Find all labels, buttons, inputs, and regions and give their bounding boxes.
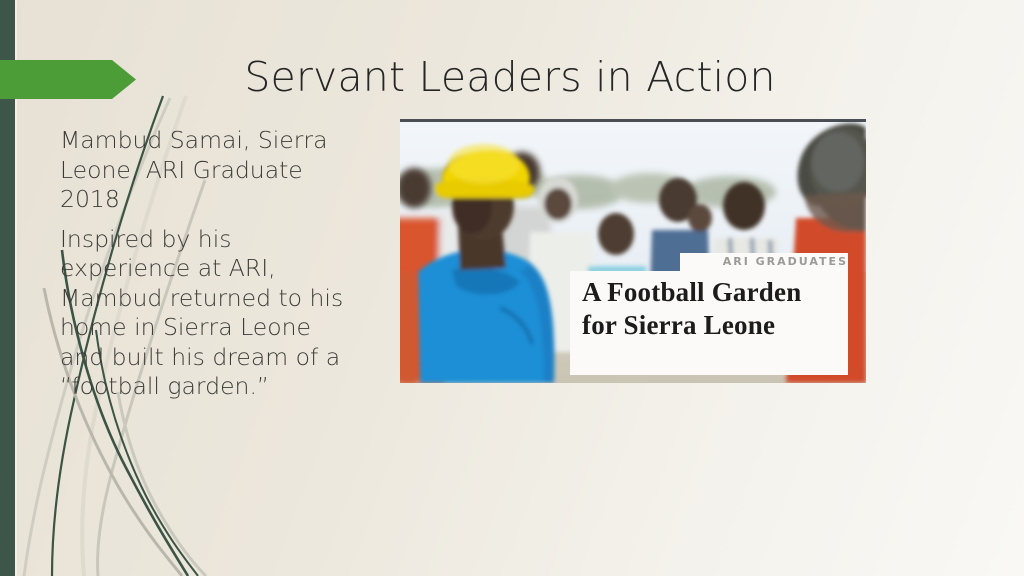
body-paragraph-2: Inspired by his experience at ARI, Mambu… — [60, 225, 350, 402]
caption-headline-line-1: A Football Garden — [582, 276, 844, 309]
slide: Servant Leaders in Action Mambud Samai, … — [0, 0, 1024, 576]
caption-kicker: ARI GRADUATES — [688, 255, 852, 268]
page-title: Servant Leaders in Action — [160, 54, 860, 101]
body-text: Mambud Samai, Sierra Leone, ARI Graduate… — [60, 126, 350, 412]
photo-football-garden: ARI GRADUATES A Football Garden for Sier… — [400, 119, 866, 383]
caption-headline-line-2: for Sierra Leone — [582, 309, 844, 342]
body-paragraph-1: Mambud Samai, Sierra Leone, ARI Graduate… — [60, 126, 350, 215]
green-arrow-accent — [0, 60, 137, 99]
caption-headline: A Football Garden for Sierra Leone — [582, 276, 844, 342]
